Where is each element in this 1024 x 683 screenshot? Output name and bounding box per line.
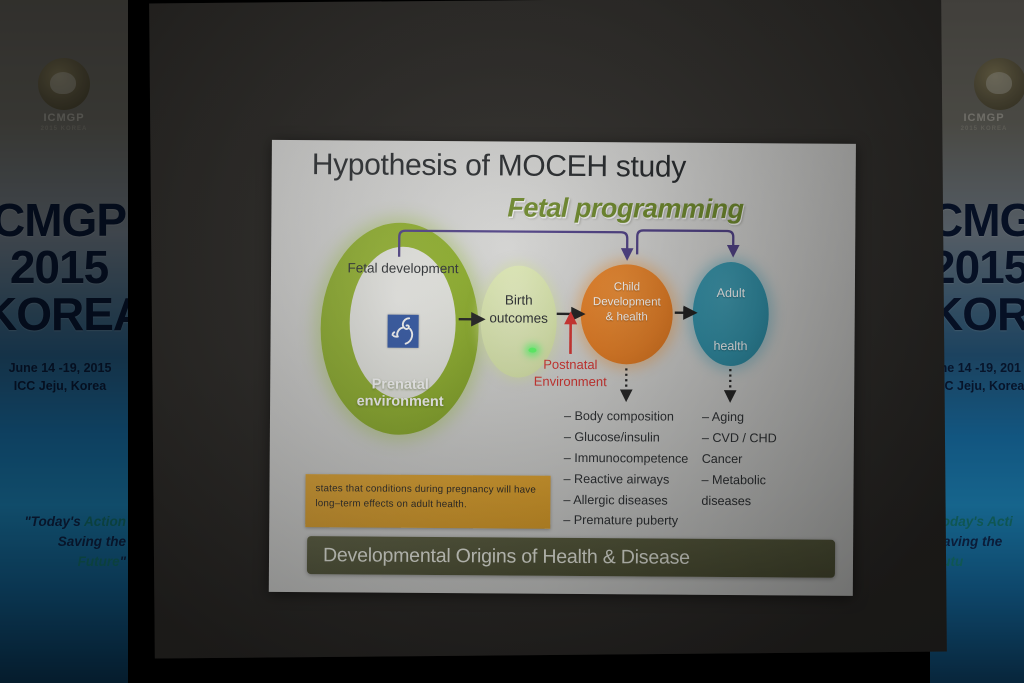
conference-banner-left: ICMGP 2015 KOREA CMGP 2015 KOREA June 14… <box>0 0 128 683</box>
presentation-slide: Hypothesis of MOCEH study Fetal programm… <box>269 140 856 596</box>
banner-left-shadow-overlay <box>0 0 128 683</box>
adult-outcomes-list: – Aging – CVD / CHD Cancer – Metabolic d… <box>701 407 777 512</box>
list-item: – Reactive airways <box>564 469 689 491</box>
definition-callout-box: states that conditions during pregnancy … <box>305 474 550 529</box>
child-outcomes-list: – Body composition – Glucose/insulin – I… <box>563 406 688 532</box>
dohad-footer-text: Developmental Origins of Health & Diseas… <box>323 544 690 570</box>
projection-screen: Hypothesis of MOCEH study Fetal programm… <box>149 0 947 658</box>
arrow-programming-child-to-adult <box>637 230 733 255</box>
list-item: – Allergic diseases <box>563 489 688 511</box>
conference-photo-scene: ICMGP 2015 KOREA CMGP 2015 KOREA June 14… <box>0 0 1024 683</box>
list-item: diseases <box>701 490 776 511</box>
list-item: – Premature puberty <box>563 510 688 532</box>
laser-pointer-dot <box>528 348 536 353</box>
list-item: – Metabolic <box>702 470 777 491</box>
arrow-programming-fetal-to-child <box>399 231 627 259</box>
list-item: – Glucose/insulin <box>564 427 689 449</box>
list-item: Cancer <box>702 449 777 470</box>
definition-callout-text: states that conditions during pregnancy … <box>315 481 543 514</box>
list-item: – Aging <box>702 407 777 428</box>
list-item: – Body composition <box>564 406 689 428</box>
list-item: – CVD / CHD <box>702 428 777 449</box>
list-item: – Immunocompetence <box>564 448 689 470</box>
dohad-footer-bar: Developmental Origins of Health & Diseas… <box>307 536 835 578</box>
